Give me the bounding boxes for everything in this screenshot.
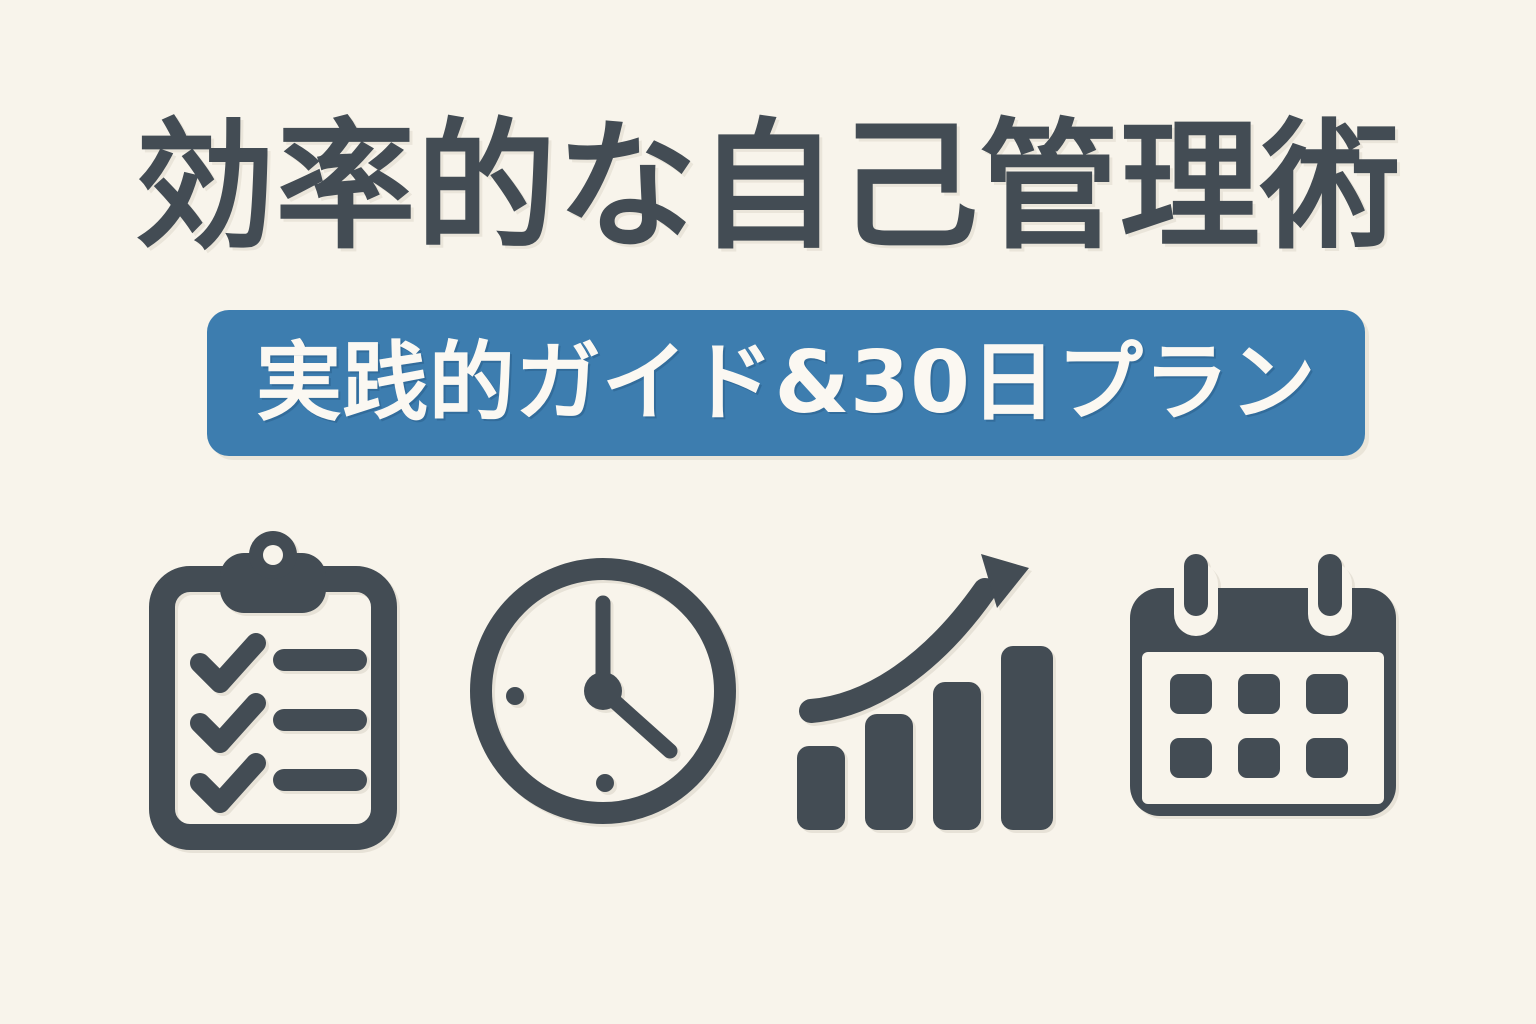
subtitle-banner: 実践的ガイド&30日プラン xyxy=(207,310,1365,456)
subtitle-label: 実践的ガイド&30日プラン xyxy=(256,340,1316,426)
clock-icon xyxy=(463,551,743,831)
page-title: 効率的な自己管理術 xyxy=(135,118,1401,258)
clipboard-checklist-icon xyxy=(148,531,398,851)
poster-canvas: 効率的な自己管理術 実践的ガイド&30日プラン xyxy=(0,0,1536,1024)
icon-cell-growth-chart xyxy=(768,521,1098,861)
calendar-icon xyxy=(1118,546,1408,836)
title-block: 効率的な自己管理術 xyxy=(0,118,1536,258)
icon-cell-calendar xyxy=(1098,521,1428,861)
growth-bar-chart-icon xyxy=(793,546,1073,836)
icon-cell-clock xyxy=(438,521,768,861)
icon-row xyxy=(0,516,1536,866)
icon-cell-clipboard xyxy=(108,521,438,861)
